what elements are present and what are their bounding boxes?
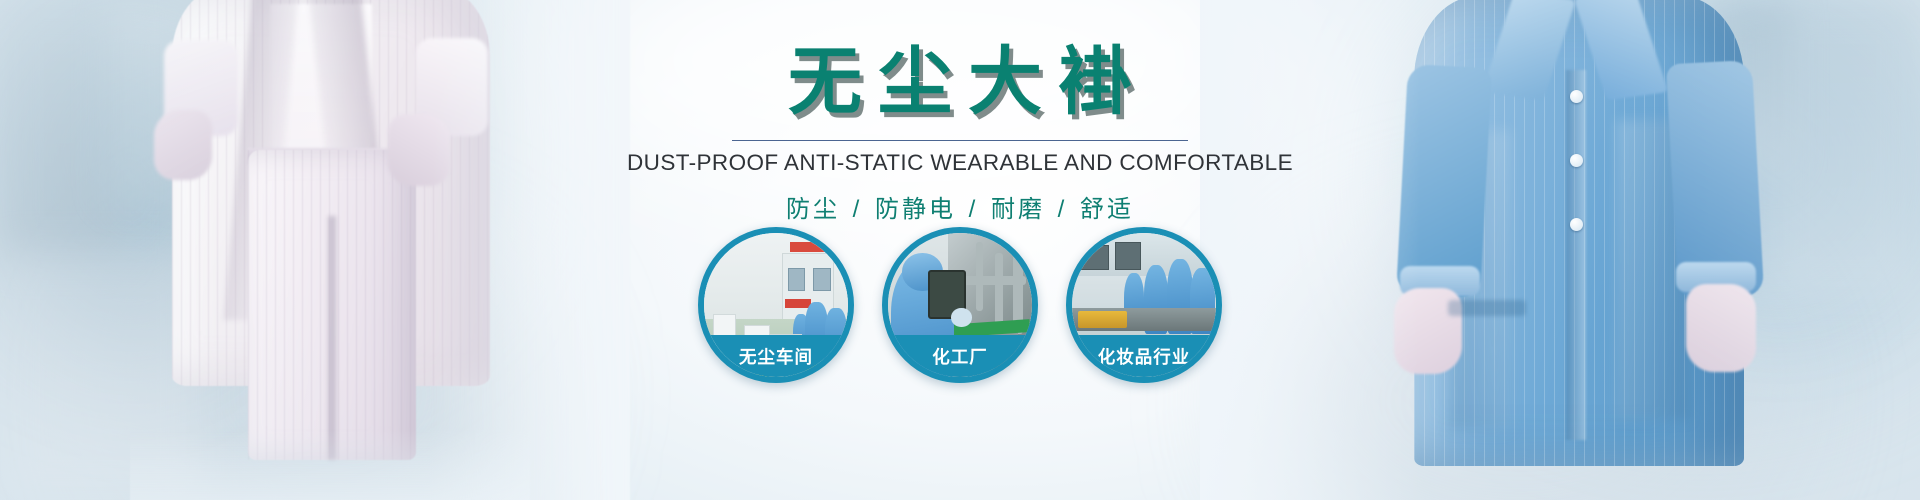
- application-badges: 无尘车间 化工厂: [698, 227, 1222, 383]
- feature-separator: /: [850, 196, 866, 223]
- badge-ring: 无尘车间: [698, 227, 854, 383]
- pant-seam: [328, 216, 336, 460]
- banner-subtitle-chinese: 防尘 / 防静电 / 耐磨 / 舒适: [0, 189, 1920, 224]
- badge-ring: 化工厂: [882, 227, 1038, 383]
- feature-separator: /: [1055, 196, 1071, 223]
- banner-subtitle-english: DUST-PROOF ANTI-STATIC WEARABLE AND COMF…: [0, 150, 1920, 176]
- title-divider: [732, 140, 1188, 141]
- badge-ring: 化妆品行业: [1066, 227, 1222, 383]
- badge-cleanroom-workshop[interactable]: 无尘车间: [698, 227, 854, 383]
- badge-chemical-plant[interactable]: 化工厂: [882, 227, 1038, 383]
- coat-pocket: [1448, 300, 1526, 316]
- product-banner: 无尘大褂 DUST-PROOF ANTI-STATIC WEARABLE AND…: [0, 0, 1920, 500]
- feature-antistatic: 防静电: [875, 196, 956, 223]
- banner-text-block: 无尘大褂 DUST-PROOF ANTI-STATIC WEARABLE AND…: [0, 0, 1920, 224]
- gloved-hand-right: [1686, 284, 1756, 372]
- feature-comfortable: 舒适: [1080, 196, 1134, 223]
- feature-wearresistant: 耐磨: [991, 196, 1045, 223]
- feature-separator: /: [966, 196, 982, 223]
- banner-title: 无尘大褂: [0, 42, 1920, 122]
- edge-fade: [130, 430, 530, 500]
- feature-dustproof: 防尘: [786, 196, 840, 223]
- badge-cosmetics-industry[interactable]: 化妆品行业: [1066, 227, 1222, 383]
